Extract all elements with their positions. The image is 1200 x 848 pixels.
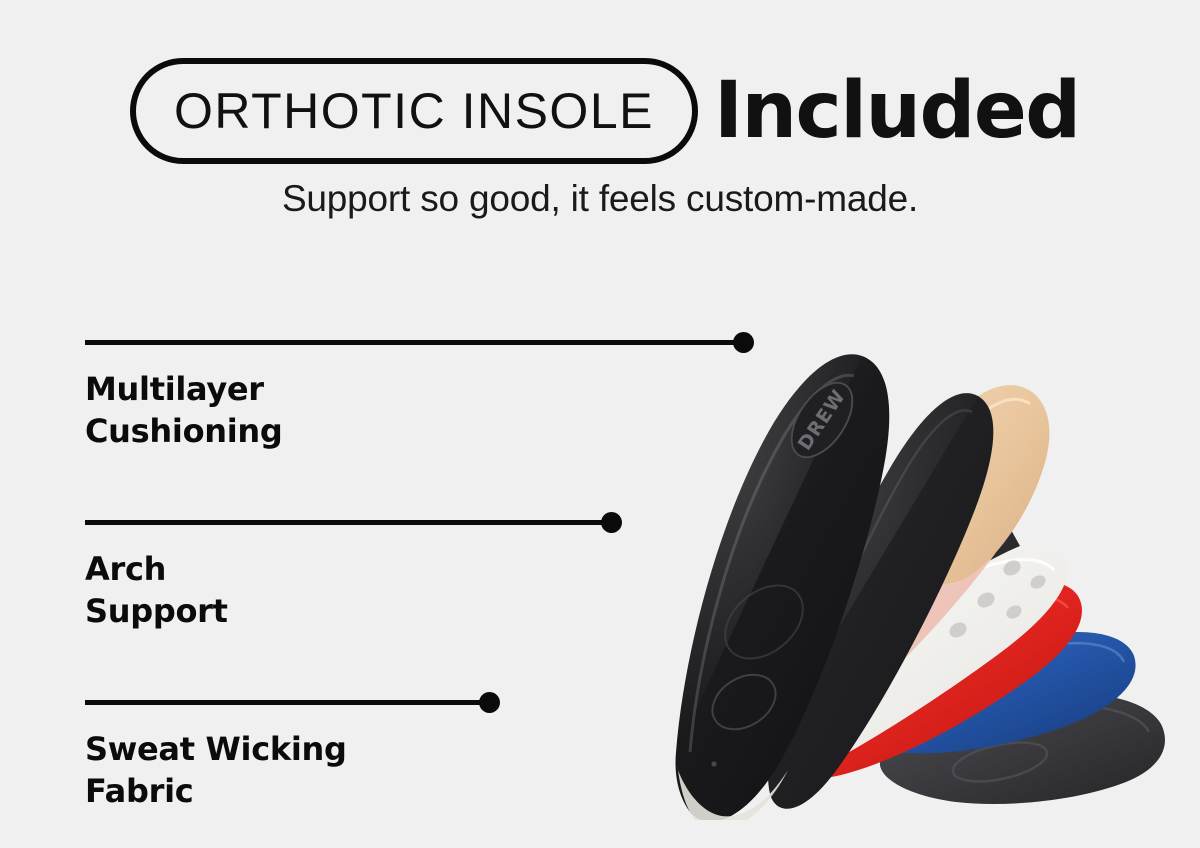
badge-label: ORTHOTIC INSOLE [174,86,654,136]
leader-dot-icon [601,512,622,533]
orthotic-insole-badge: ORTHOTIC INSOLE [130,58,698,164]
feature-label: Arch Support [85,548,228,632]
leader-line-group [85,330,283,354]
leader-line [85,700,481,705]
leader-line [85,520,603,525]
leader-line [85,340,735,345]
subtitle-text: Support so good, it feels custom-made. [0,178,1200,220]
feature-label: Sweat Wicking Fabric [85,728,347,812]
feature-callout-arch-support: Arch Support [85,510,228,632]
leader-line-group [85,510,228,534]
leader-line-group [85,690,347,714]
header-section: ORTHOTIC INSOLE Included Support so good… [0,0,1200,240]
headline-row: ORTHOTIC INSOLE Included [130,58,1080,164]
leader-dot-icon [479,692,500,713]
feature-label: Multilayer Cushioning [85,368,283,452]
page-title: Included [714,72,1080,150]
feature-callout-multilayer-cushioning: Multilayer Cushioning [85,330,283,452]
feature-callout-sweat-wicking-fabric: Sweat Wicking Fabric [85,690,347,812]
insole-layers-product-image: DREW [640,300,1200,820]
